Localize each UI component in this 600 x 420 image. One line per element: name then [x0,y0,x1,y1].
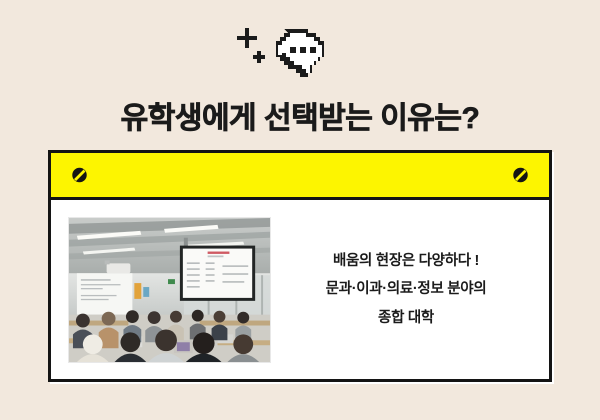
sparkle-icon [237,28,257,48]
sparkle-icon [253,51,265,63]
classroom-photo [68,217,271,363]
slashed-circle-icon-svg [71,167,88,184]
classroom-photo-svg [69,218,270,362]
card-text-block: 배움의 현장은 다양하다 ! 문과·이과·의료·정보 분야의 종합 대학 [271,247,535,332]
card-text-line: 문과·이과·의료·정보 분야의 [277,275,535,303]
feature-card: 배움의 현장은 다양하다 ! 문과·이과·의료·정보 분야의 종합 대학 [48,150,552,382]
card-body: 배움의 현장은 다양하다 ! 문과·이과·의료·정보 분야의 종합 대학 [51,200,549,379]
card-text-line: 종합 대학 [277,304,535,332]
slashed-circle-icon [71,167,88,184]
card-banner [51,153,549,200]
icon-cluster-svg [232,25,324,83]
slashed-circle-icon-svg [512,167,529,184]
slashed-circle-icon [512,167,529,184]
speech-bubble-icon [276,29,324,77]
decorative-icon-cluster [232,25,324,83]
card-text-line: 배움의 현장은 다양하다 ! [277,247,535,275]
page-title: 유학생에게 선택받는 이유는? [0,102,600,135]
